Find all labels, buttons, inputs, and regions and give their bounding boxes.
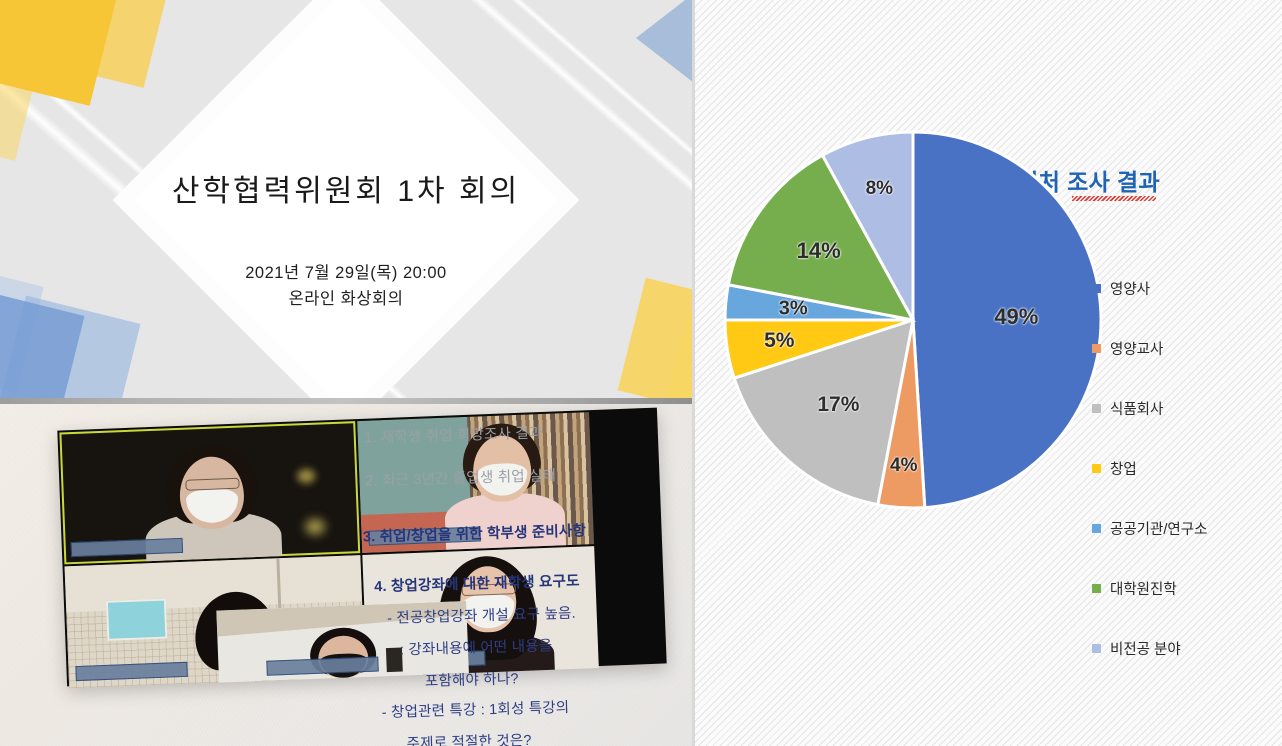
- legend-item-2[interactable]: 영양교사: [1092, 318, 1282, 378]
- chart-slide-panel: 최근 3년간 졸업생 취업처 조사 결과 49%4%17%5%3%14%8% 영…: [692, 0, 1282, 746]
- pie-slice-label: 4%: [890, 455, 917, 477]
- book-on-desk: [106, 599, 167, 641]
- legend-color-swatch: [1092, 464, 1101, 473]
- video-tile-1: [59, 421, 360, 564]
- legend-color-swatch: [1092, 584, 1101, 593]
- agenda-item-1: 1. 재학생 취업 희망조사 결과: [364, 421, 543, 447]
- legend-color-swatch: [1092, 404, 1101, 413]
- pie-slice-label: 49%: [994, 304, 1038, 330]
- legend-label: 영양교사: [1110, 338, 1163, 359]
- agenda-text-block: 1. 재학생 취업 희망조사 결과 2. 최근 3년간 졸업생 취업 실태 3.…: [355, 404, 692, 746]
- title-slide: 산학협력위원회 1차 회의 2021년 7월 29일(목) 20:00 온라인 …: [0, 0, 692, 400]
- legend-item-4[interactable]: 창업: [1092, 438, 1282, 498]
- agenda-sub-2: : 강좌내용에 어떤 내용을: [400, 634, 553, 659]
- pie-slice-label: 5%: [764, 329, 794, 353]
- legend-item-1[interactable]: 영양사: [1092, 258, 1282, 318]
- meeting-mode: 온라인 화상회의: [0, 286, 692, 312]
- bokeh-light-1: [297, 469, 316, 484]
- agenda-sub-1: - 전공창업강좌 개설 요구 높음.: [387, 602, 576, 628]
- pie-chart: 49%4%17%5%3%14%8%: [718, 125, 1108, 515]
- slide-subtitle: 2021년 7월 29일(목) 20:00 온라인 화상회의: [0, 260, 692, 312]
- agenda-item-3: 3. 취업/창업을 위한 학부생 준비사항: [363, 519, 587, 546]
- pie-slice-label: 17%: [817, 393, 859, 417]
- legend-color-swatch: [1092, 284, 1101, 293]
- legend-color-swatch: [1092, 524, 1101, 533]
- meeting-photo: 1. 재학생 취업 희망조사 결과 2. 최근 3년간 졸업생 취업 실태 3.…: [0, 404, 692, 746]
- bokeh-light-2: [305, 518, 326, 535]
- legend-label: 창업: [1110, 458, 1137, 479]
- chart-legend: 영양사영양교사식품회사창업공공기관/연구소대학원진학비전공 분야: [1092, 258, 1282, 678]
- legend-item-7[interactable]: 비전공 분야: [1092, 618, 1282, 678]
- legend-label: 비전공 분야: [1110, 638, 1181, 659]
- legend-item-6[interactable]: 대학원진학: [1092, 558, 1282, 618]
- agenda-sub-4: - 창업관련 특강 : 1회성 특강의: [381, 696, 569, 722]
- legend-label: 공공기관/연구소: [1110, 518, 1207, 539]
- agenda-sub-5: 주제로 적절한 것은?: [406, 729, 532, 746]
- agenda-item-2: 2. 최근 3년간 졸업생 취업 실태: [365, 464, 556, 490]
- legend-label: 영양사: [1110, 278, 1150, 299]
- pie-slice-label: 8%: [866, 178, 893, 200]
- slide-title: 산학협력위원회 1차 회의: [0, 166, 692, 210]
- slide-screenshot: 산학협력위원회 1차 회의 2021년 7월 29일(목) 20:00 온라인 …: [0, 0, 1282, 746]
- legend-color-swatch: [1092, 644, 1101, 653]
- legend-label: 대학원진학: [1110, 578, 1177, 599]
- meeting-datetime: 2021년 7월 29일(목) 20:00: [0, 260, 692, 286]
- panel-left-edge: [692, 0, 695, 746]
- left-slide-panel: 산학협력위원회 1차 회의 2021년 7월 29일(목) 20:00 온라인 …: [0, 0, 692, 746]
- legend-item-3[interactable]: 식품회사: [1092, 378, 1282, 438]
- agenda-item-4: 4. 창업강좌에 대한 재학생 요구도: [374, 570, 580, 597]
- legend-label: 식품회사: [1110, 398, 1163, 419]
- participant-glasses: [185, 478, 239, 491]
- pie-slice-label: 3%: [779, 297, 808, 320]
- pie-slice-label: 14%: [797, 238, 841, 264]
- legend-color-swatch: [1092, 344, 1101, 353]
- legend-item-5[interactable]: 공공기관/연구소: [1092, 498, 1282, 558]
- agenda-sub-3: 포함해야 하나?: [425, 667, 519, 691]
- decor-triangle-blue: [636, 0, 692, 86]
